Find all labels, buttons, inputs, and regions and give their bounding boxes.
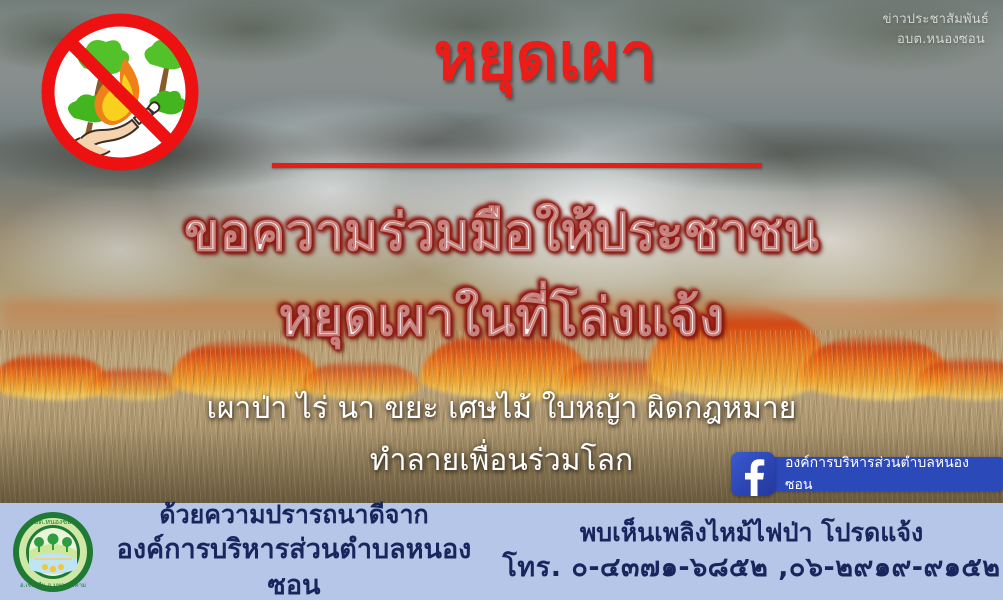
subtext-line1: เผาป่า ไร่ นา ขยะ เศษไม้ ใบหญ้า ผิดกฎหมา…: [0, 385, 1003, 432]
footer-left-line1: ด้วยความปรารถนาดีจาก: [94, 498, 494, 532]
headline-divider: [272, 163, 762, 168]
footer-left: อบต.หนองซอน อ.เชียงยืน จ.มหาสารคาม ด้วยค…: [0, 498, 500, 600]
municipality-seal-logo: อบต.หนองซอน อ.เชียงยืน จ.มหาสารคาม: [12, 511, 94, 593]
headline: หยุดเผา: [330, 22, 760, 91]
corner-note: ข่าวประชาสัมพันธ์ อบต.หนองซอน: [883, 10, 989, 49]
seal-bottom-text: อ.เชียงยืน จ.มหาสารคาม: [20, 581, 86, 589]
seal-top-text: อบต.หนองซอน: [30, 518, 76, 526]
facebook-badge[interactable]: องค์การบริหารส่วนตำบลหนองซอน: [731, 452, 1003, 496]
no-burning-sign: [22, 12, 218, 172]
public-announcement-poster: ข่าวประชาสัมพันธ์ อบต.หนองซอน หยุดเผา ขอ…: [0, 0, 1003, 600]
footer-bar: อบต.หนองซอน อ.เชียงยืน จ.มหาสารคาม ด้วยค…: [0, 503, 1003, 600]
facebook-page-name[interactable]: องค์การบริหารส่วนตำบลหนองซอน: [769, 457, 1003, 491]
main-message-line1: ขอความร่วมมือให้ประชาชน: [0, 190, 1003, 273]
footer-right-line1: พบเห็นเพลิงไหม้ไฟป่า โปรดแจ้ง: [500, 516, 1003, 550]
facebook-icon[interactable]: [731, 452, 775, 496]
corner-note-line1: ข่าวประชาสัมพันธ์: [883, 10, 989, 30]
footer-left-line2: องค์การบริหารส่วนตำบลหนองซอน: [94, 532, 494, 600]
footer-phone-numbers: โทร. ๐-๔๓๗๑-๖๘๕๒ ,๐๖-๒๙๑๙-๙๑๕๒: [500, 550, 1003, 586]
main-message-line2: หยุดเผาในที่โล่งแจ้ง: [0, 275, 1003, 358]
corner-note-line2: อบต.หนองซอน: [883, 30, 989, 50]
footer-left-text: ด้วยความปรารถนาดีจาก องค์การบริหารส่วนตำ…: [94, 498, 500, 600]
footer-right: พบเห็นเพลิงไหม้ไฟป่า โปรดแจ้ง โทร. ๐-๔๓๗…: [500, 516, 1003, 586]
